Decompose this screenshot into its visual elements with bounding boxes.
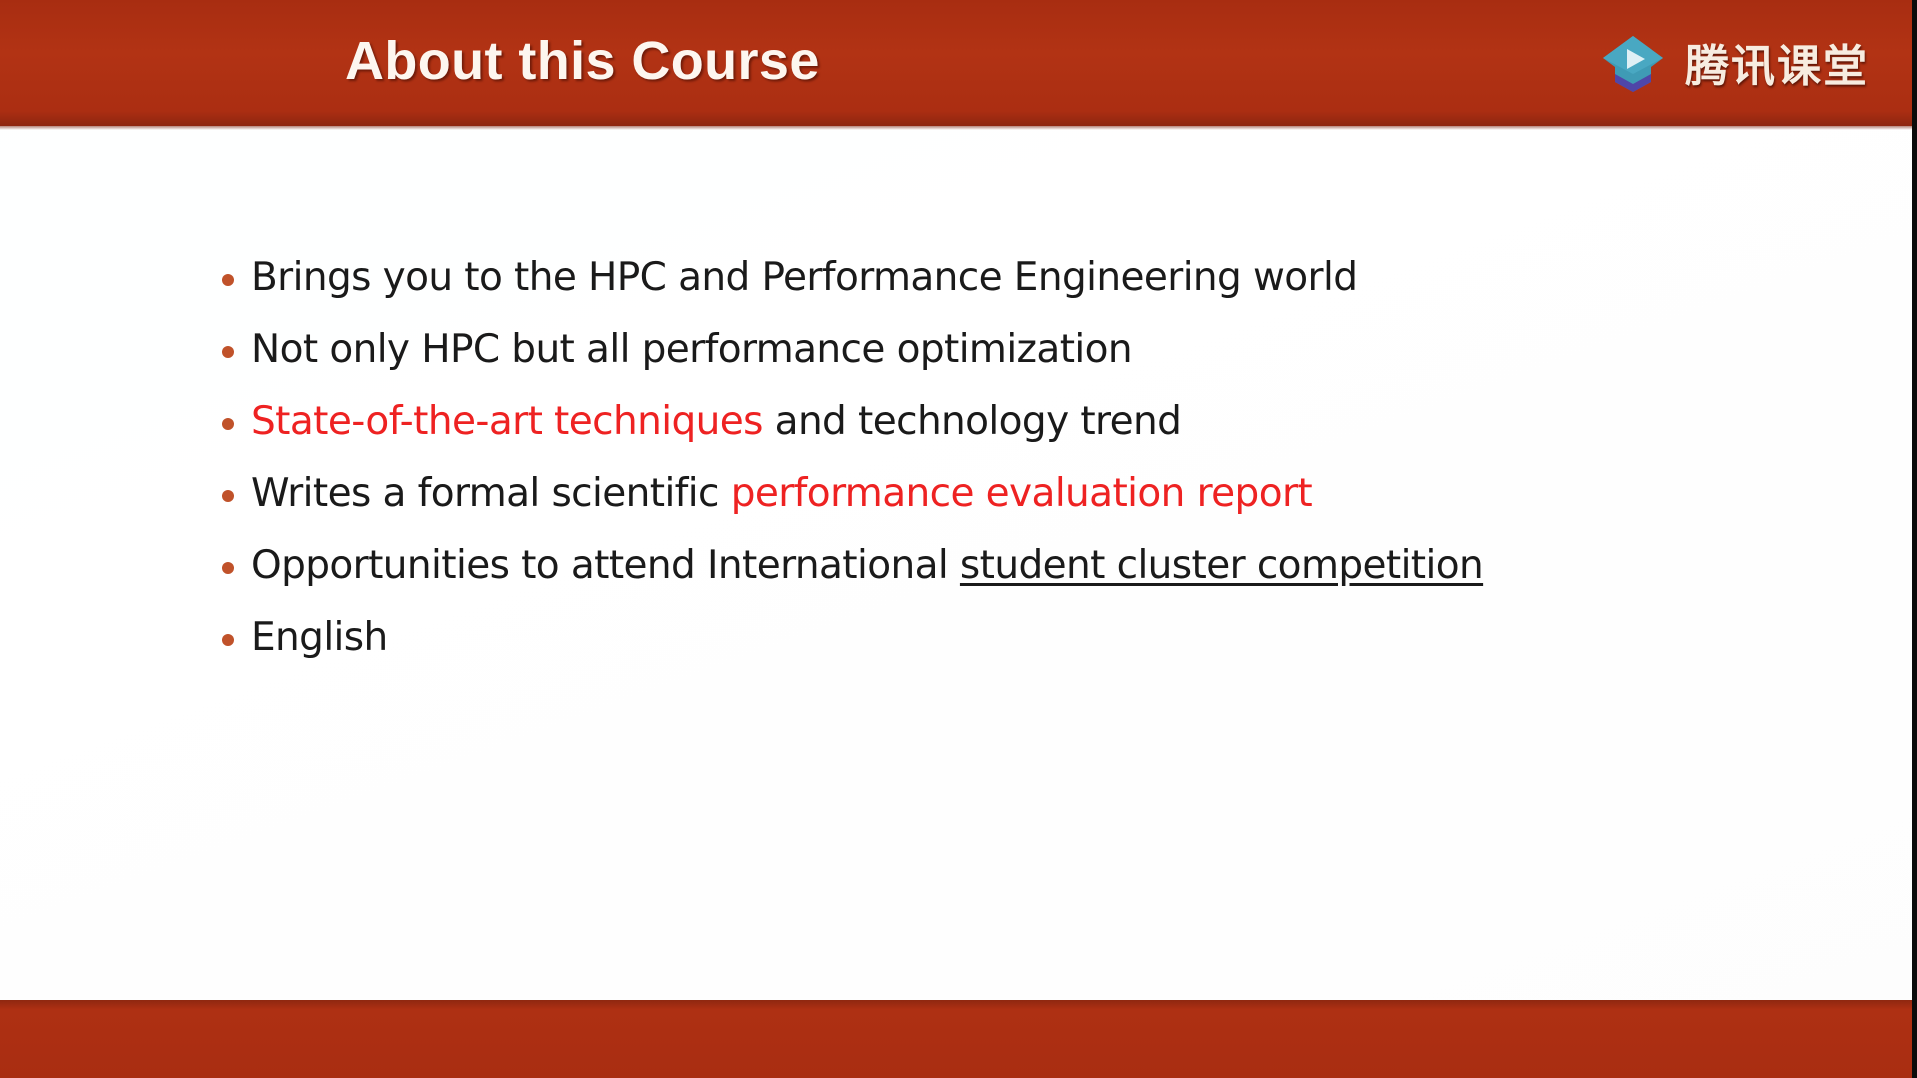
bullet-dot-icon — [222, 562, 234, 574]
bullet-segment: Opportunities to attend International — [251, 543, 960, 588]
brand-logo-text: 腾讯课堂 — [1685, 30, 1869, 94]
list-item: Writes a formal scientific performance e… — [222, 468, 1782, 540]
frame-right-edge — [1912, 0, 1917, 1078]
list-item: Brings you to the HPC and Performance En… — [222, 252, 1782, 324]
bullet-list: Brings you to the HPC and Performance En… — [222, 252, 1782, 684]
page-title: About this Course — [345, 30, 820, 92]
graduation-cap-play-icon — [1595, 24, 1671, 100]
footer-banner — [0, 1000, 1917, 1078]
bullet-text-6: English — [251, 612, 1782, 664]
bullet-segment: Not only HPC but all performance optimiz… — [251, 327, 1132, 372]
list-item: English — [222, 612, 1782, 684]
list-item: Not only HPC but all performance optimiz… — [222, 324, 1782, 396]
bullet-dot-icon — [222, 634, 234, 646]
bullet-dot-icon — [222, 346, 234, 358]
bullet-segment: Writes a formal scientific — [251, 471, 731, 516]
bullet-text-3: State-of-the-art techniques and technolo… — [251, 396, 1782, 448]
bullet-text-1: Brings you to the HPC and Performance En… — [251, 252, 1782, 304]
brand-logo: 腾讯课堂 — [1595, 20, 1869, 104]
list-item: State-of-the-art techniques and technolo… — [222, 396, 1782, 468]
bullet-text-4: Writes a formal scientific performance e… — [251, 468, 1782, 520]
bullet-dot-icon — [222, 418, 234, 430]
slide-canvas: About this Course 腾讯课堂 Brings you to the… — [0, 0, 1917, 1078]
bullet-segment: Brings you to the HPC and Performance En… — [251, 255, 1357, 300]
bullet-segment-emphasis: student cluster competition — [960, 543, 1483, 588]
title-banner-shadow — [0, 126, 1917, 130]
bullet-segment: and technology trend — [763, 399, 1181, 444]
bullet-segment-emphasis: State-of-the-art techniques — [251, 399, 763, 444]
bullet-dot-icon — [222, 490, 234, 502]
bullet-segment: English — [251, 615, 388, 660]
bullet-segment-emphasis: performance evaluation report — [731, 471, 1312, 516]
bullet-dot-icon — [222, 274, 234, 286]
bullet-text-2: Not only HPC but all performance optimiz… — [251, 324, 1782, 376]
list-item: Opportunities to attend International st… — [222, 540, 1782, 612]
bullet-text-5: Opportunities to attend International st… — [251, 540, 1782, 592]
